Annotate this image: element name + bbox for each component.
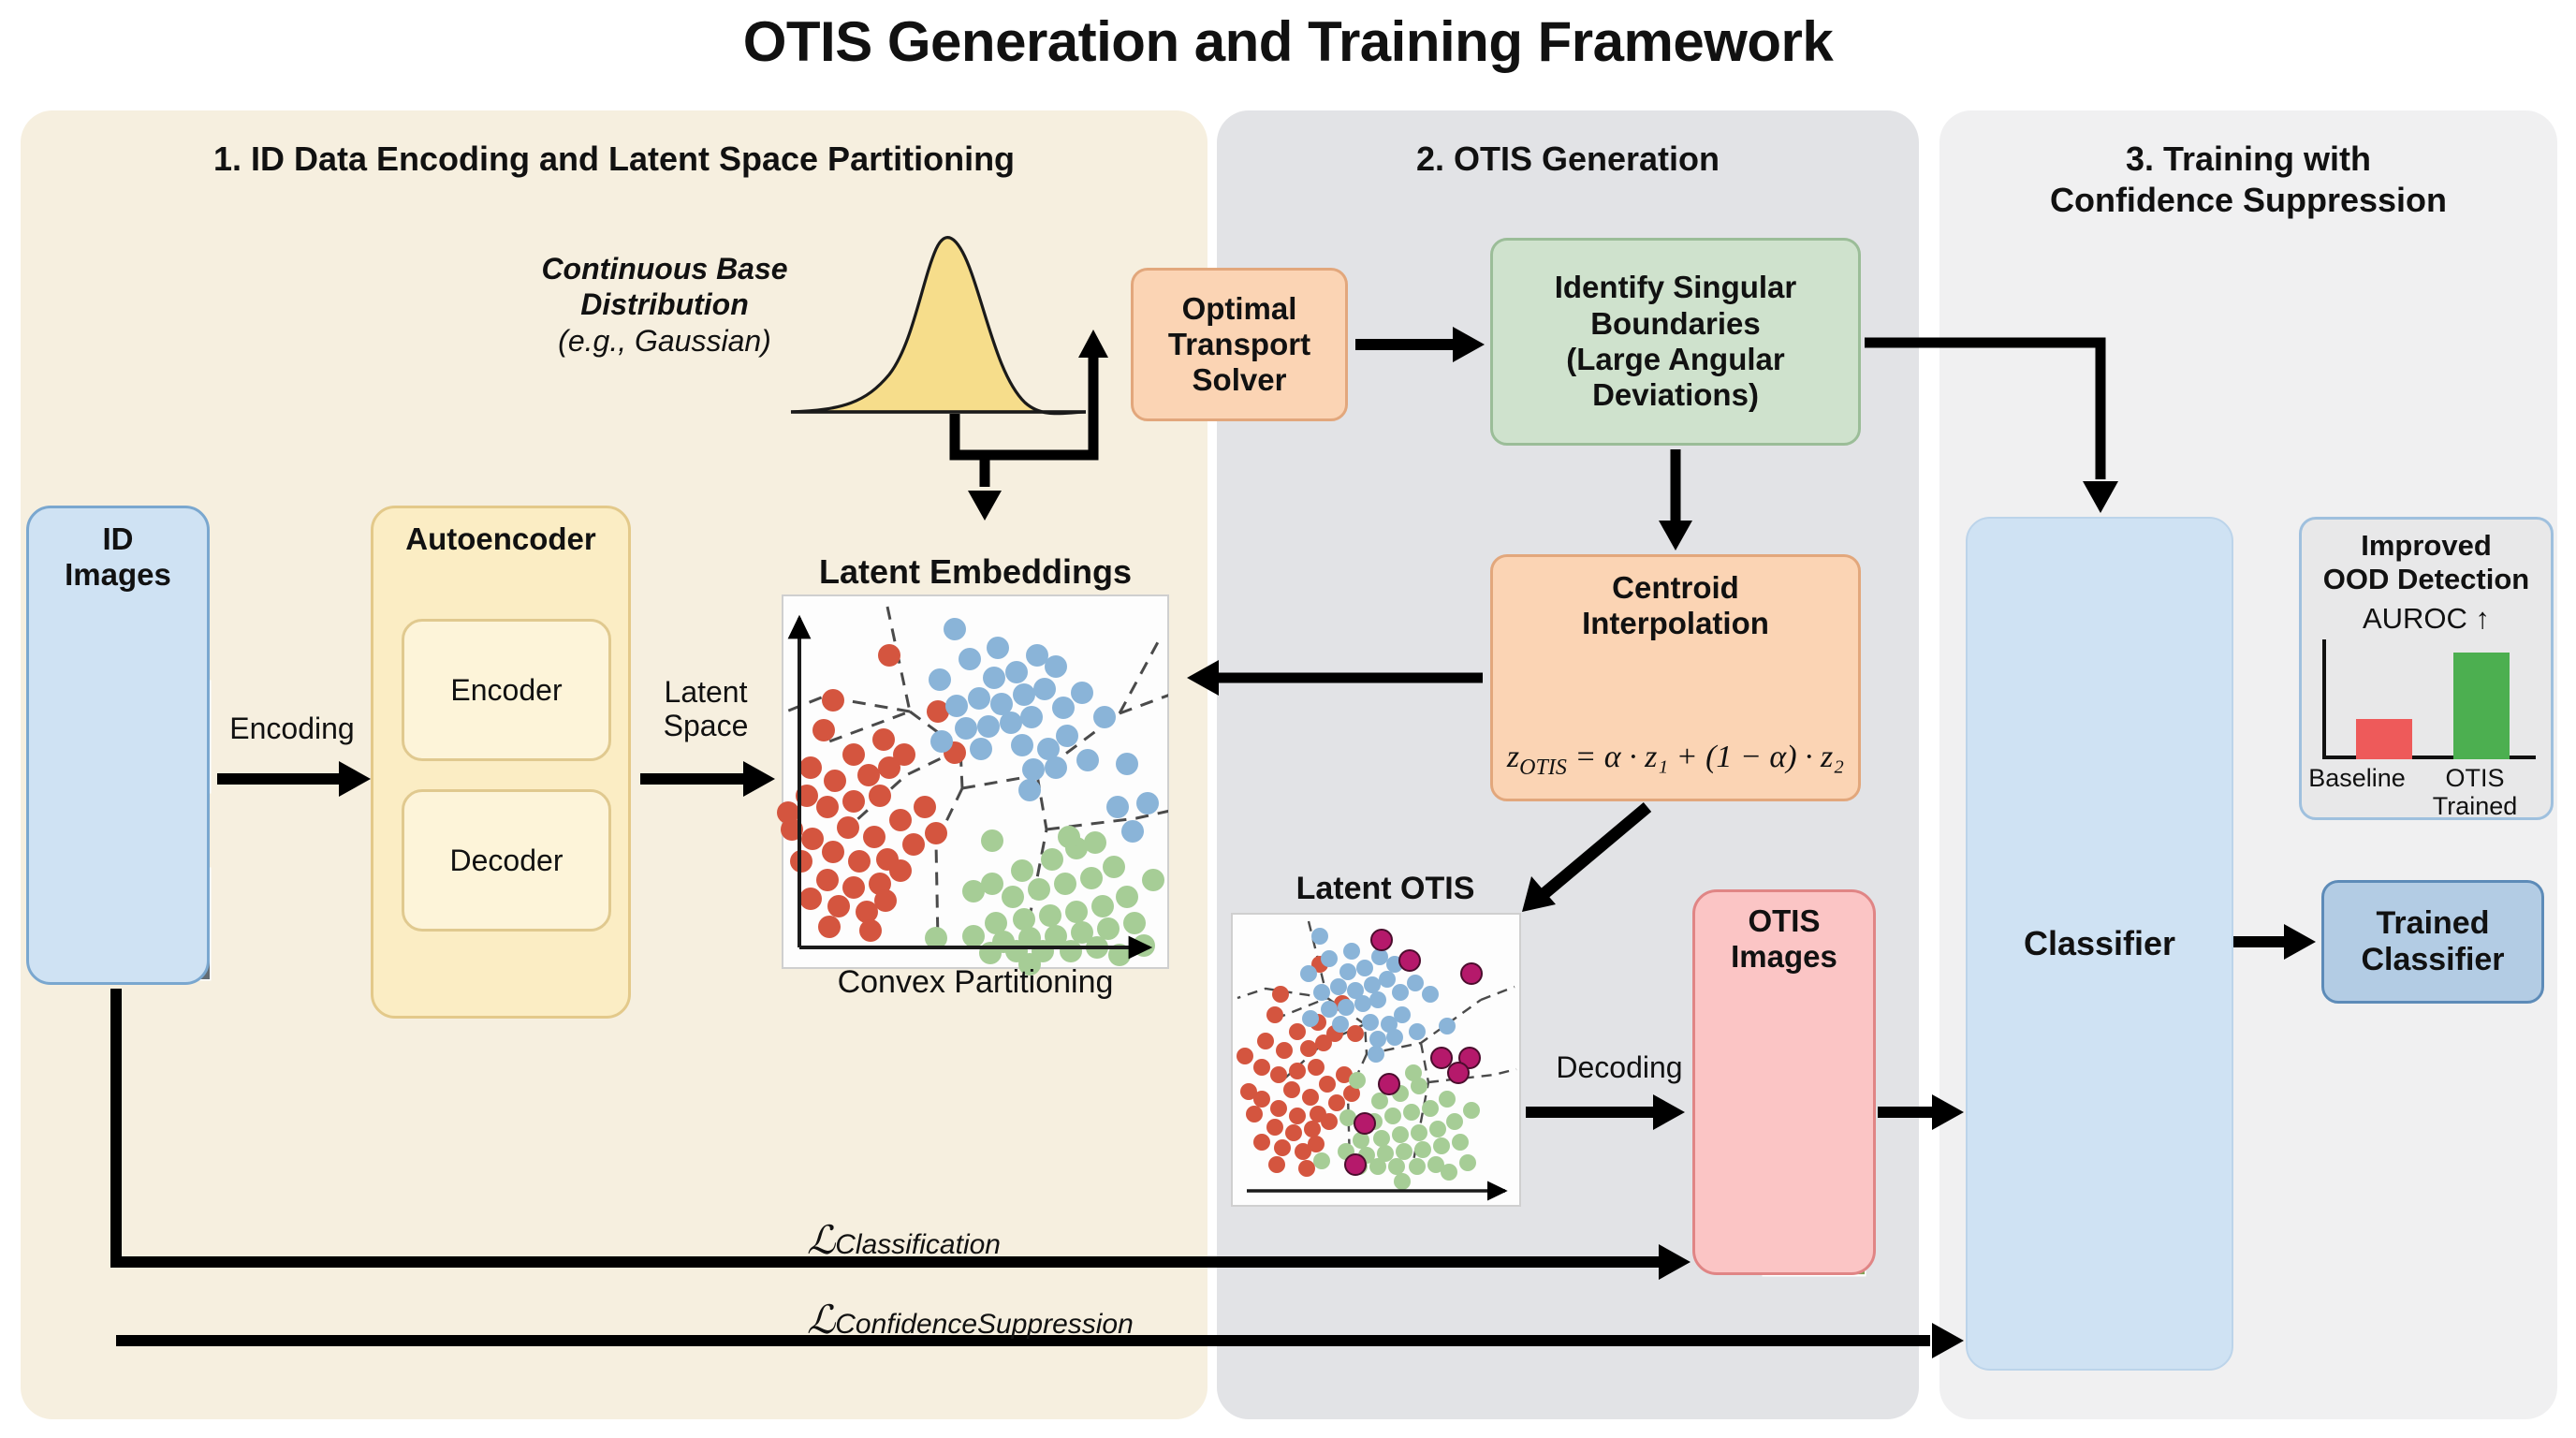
continuous-base-distribution-label: Continuous Base Distribution (e.g., Gaus… (487, 251, 842, 359)
centroid-line2: Interpolation (1582, 606, 1769, 641)
cbd-line2: Distribution (487, 286, 842, 322)
latent-space-line2: Space (642, 710, 769, 743)
otis-images-line2: Images (1731, 939, 1837, 975)
loss-confidence-suppression-label: ℒConfidenceSuppression (807, 1297, 1134, 1343)
auroc-bar-chart (2322, 639, 2536, 759)
formula-lhs-sub: OTIS (1519, 756, 1567, 780)
panel-3-title-line1: 3. Training with (1939, 139, 2557, 180)
optimal-transport-solver-box[interactable]: Optimal Transport Solver (1131, 268, 1348, 421)
xlabel-otis-trained: OTIS Trained (2412, 765, 2538, 820)
loss-classification-symbol: ℒ (807, 1220, 835, 1263)
cbd-line1: Continuous Base (487, 251, 842, 286)
encoder-box[interactable]: Encoder (402, 619, 611, 761)
ot-line1: Optimal (1182, 291, 1297, 327)
decoder-box[interactable]: Decoder (402, 789, 611, 932)
id-images-box[interactable]: ID Images (26, 506, 210, 985)
ot-line3: Solver (1193, 362, 1287, 398)
latent-embeddings-title: Latent Embeddings (769, 552, 1181, 592)
bar-otis-trained (2453, 653, 2510, 759)
panel-3-title-line2: Confidence Suppression (1939, 180, 2557, 221)
chart-y-axis (2322, 639, 2326, 759)
improved-ood-detection-card: Improved OOD Detection AUROC ↑ Baseline … (2299, 517, 2554, 820)
cbd-line3: (e.g., Gaussian) (487, 323, 842, 359)
loss-classification-label: ℒClassification (807, 1217, 1001, 1264)
ot-line2: Transport (1168, 327, 1310, 362)
isb-line3: (Large Angular (1566, 342, 1784, 377)
xlabel-baseline: Baseline (2302, 765, 2412, 820)
formula-lhs: z (1507, 740, 1519, 774)
id-images-label-line1: ID (103, 521, 134, 557)
isb-line2: Boundaries (1590, 306, 1761, 342)
loss-confidence-symbol: ℒ (807, 1299, 835, 1343)
bar-baseline (2356, 719, 2412, 759)
latent-space-arrow-label: Latent Space (642, 676, 769, 743)
formula-rhs: = α · z₁ + (1 − α) · z₂ (1567, 740, 1844, 774)
identify-singular-boundaries-box[interactable]: Identify Singular Boundaries (Large Angu… (1490, 238, 1861, 446)
centroid-line1: Centroid (1612, 570, 1739, 606)
trained-classifier-line2: Classifier (2361, 942, 2504, 978)
panel-2-title: 2. OTIS Generation (1217, 139, 1919, 180)
decoder-label: Decoder (450, 844, 563, 878)
classifier-box[interactable]: Classifier (1966, 517, 2233, 1371)
id-images-label-line2: Images (65, 557, 171, 593)
latent-otis-title: Latent OTIS (1245, 871, 1526, 907)
loss-confidence-sub: ConfidenceSuppression (835, 1309, 1134, 1340)
latent-space-line1: Latent (642, 676, 769, 710)
centroid-formula: zOTIS = α · z₁ + (1 − α) · z₂ (1498, 740, 1853, 781)
otis-images-box[interactable]: OTIS Images (1692, 889, 1876, 1275)
trained-classifier-box[interactable]: Trained Classifier (2321, 880, 2544, 1004)
classifier-label: Classifier (2024, 924, 2175, 963)
encoder-label: Encoder (450, 673, 562, 708)
loss-classification-sub: Classification (835, 1229, 1001, 1260)
decoding-arrow-label: Decoding (1526, 1050, 1713, 1085)
trained-classifier-line1: Trained (2377, 905, 2490, 942)
encoding-arrow-label: Encoding (217, 712, 367, 746)
panel-1-title: 1. ID Data Encoding and Latent Space Par… (21, 139, 1207, 180)
auroc-x-labels: Baseline OTIS Trained (2302, 765, 2551, 820)
convex-partitioning-label: Convex Partitioning (769, 964, 1181, 1001)
ood-line1: Improved (2361, 529, 2492, 563)
auroc-chart-title: AUROC ↑ (2302, 602, 2551, 636)
autoencoder-box[interactable]: Autoencoder Encoder Decoder (371, 506, 631, 1019)
ood-line2: OOD Detection (2323, 563, 2529, 596)
autoencoder-title: Autoencoder (405, 521, 596, 557)
isb-line4: Deviations) (1592, 377, 1759, 413)
page-title: OTIS Generation and Training Framework (0, 9, 2576, 74)
otis-images-line1: OTIS (1748, 903, 1820, 939)
isb-line1: Identify Singular (1555, 270, 1797, 305)
